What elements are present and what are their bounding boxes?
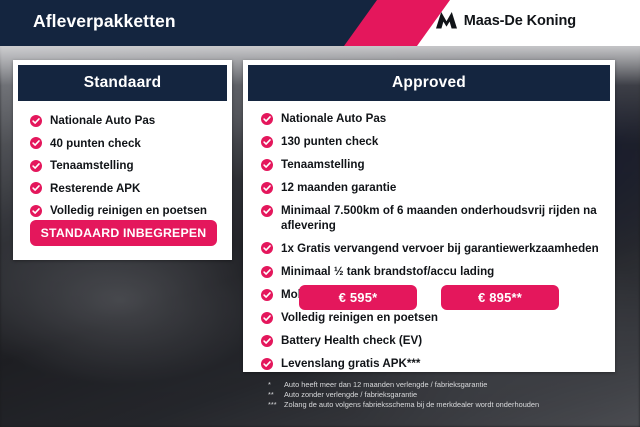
feature-label: Volledig reinigen en poetsen <box>281 311 438 326</box>
feature-label: Tenaamstelling <box>281 158 365 173</box>
feature-item: Battery Health check (EV) <box>261 334 615 349</box>
feature-label: Tenaamstelling <box>50 159 134 172</box>
check-circle-icon <box>261 205 273 217</box>
feature-item: Nationale Auto Pas <box>261 112 615 127</box>
card-standaard-title: Standaard <box>18 65 227 101</box>
feature-item: Tenaamstelling <box>30 159 232 172</box>
footnote-row: **Auto zonder verlengde / fabrieksgarant… <box>268 390 628 400</box>
feature-label: Levenslang gratis APK*** <box>281 357 420 372</box>
brand-name: Maas-De Koning <box>464 13 576 29</box>
feature-item: Nationale Auto Pas <box>30 114 232 127</box>
check-circle-icon <box>30 160 42 172</box>
check-circle-icon <box>261 312 273 324</box>
feature-label: Volledig reinigen en poetsen <box>50 204 207 217</box>
feature-label: Resterende APK <box>50 182 140 195</box>
feature-item: Tenaamstelling <box>261 158 615 173</box>
check-circle-icon <box>261 242 273 254</box>
price-button-row: € 595*€ 895** <box>243 285 615 310</box>
check-circle-icon <box>261 335 273 347</box>
footnote-row: ***Zolang de auto volgens fabrieksschema… <box>268 400 628 410</box>
feature-item: Minimaal 7.500km of 6 maanden onderhouds… <box>261 204 615 233</box>
feature-item: 12 maanden garantie <box>261 181 615 196</box>
feature-item: 130 punten check <box>261 135 615 150</box>
feature-item: Volledig reinigen en poetsen <box>30 204 232 217</box>
feature-label: Minimaal ½ tank brandstof/accu lading <box>281 265 494 280</box>
header-bar: Afleverpakketten Maas-De Koning <box>0 0 640 46</box>
price-button[interactable]: € 895** <box>441 285 559 310</box>
feature-item: Levenslang gratis APK*** <box>261 357 615 372</box>
footnote-row: *Auto heeft meer dan 12 maanden verlengd… <box>268 380 628 390</box>
feature-item: 40 punten check <box>30 137 232 150</box>
card-approved-title: Approved <box>248 65 610 101</box>
card-standaard: Standaard Nationale Auto Pas40 punten ch… <box>13 60 232 260</box>
footnotes: *Auto heeft meer dan 12 maanden verlengd… <box>268 380 628 410</box>
check-circle-icon <box>261 266 273 278</box>
footnote-marker: *** <box>268 400 284 410</box>
check-circle-icon <box>261 136 273 148</box>
card-approved: Approved Nationale Auto Pas130 punten ch… <box>243 60 615 372</box>
check-circle-icon <box>261 113 273 125</box>
check-circle-icon <box>30 115 42 127</box>
footnote-marker: ** <box>268 390 284 400</box>
feature-label: Nationale Auto Pas <box>281 112 386 127</box>
card-standaard-feature-list: Nationale Auto Pas40 punten checkTenaams… <box>30 114 232 217</box>
footnote-text: Zolang de auto volgens fabrieksschema bi… <box>284 400 539 410</box>
feature-item: Resterende APK <box>30 182 232 195</box>
check-circle-icon <box>30 182 42 194</box>
feature-item: Volledig reinigen en poetsen <box>261 311 615 326</box>
feature-label: Minimaal 7.500km of 6 maanden onderhouds… <box>281 204 615 233</box>
card-approved-feature-list: Nationale Auto Pas130 punten checkTenaam… <box>261 112 615 372</box>
promo-poster: Afleverpakketten Maas-De Koning Standaar… <box>0 0 640 427</box>
feature-label: Battery Health check (EV) <box>281 334 422 349</box>
check-circle-icon <box>261 159 273 171</box>
check-circle-icon <box>261 182 273 194</box>
footnote-text: Auto heeft meer dan 12 maanden verlengde… <box>284 380 487 390</box>
feature-label: Nationale Auto Pas <box>50 114 155 127</box>
check-circle-icon <box>30 205 42 217</box>
feature-item: Minimaal ½ tank brandstof/accu lading <box>261 265 615 280</box>
footnote-marker: * <box>268 380 284 390</box>
check-circle-icon <box>261 358 273 370</box>
feature-label: 1x Gratis vervangend vervoer bij garanti… <box>281 242 599 257</box>
page-title: Afleverpakketten <box>33 11 176 32</box>
feature-label: 12 maanden garantie <box>281 181 396 196</box>
price-button[interactable]: € 595* <box>299 285 417 310</box>
maas-de-koning-m-logo-icon <box>436 12 457 29</box>
feature-label: 130 punten check <box>281 135 378 150</box>
feature-label: 40 punten check <box>50 137 141 150</box>
check-circle-icon <box>30 137 42 149</box>
footnote-text: Auto zonder verlengde / fabrieksgarantie <box>284 390 417 400</box>
brand-logo: Maas-De Koning <box>436 12 576 29</box>
feature-item: 1x Gratis vervangend vervoer bij garanti… <box>261 242 615 257</box>
standaard-inbegrepen-button[interactable]: STANDAARD INBEGREPEN <box>30 220 217 246</box>
